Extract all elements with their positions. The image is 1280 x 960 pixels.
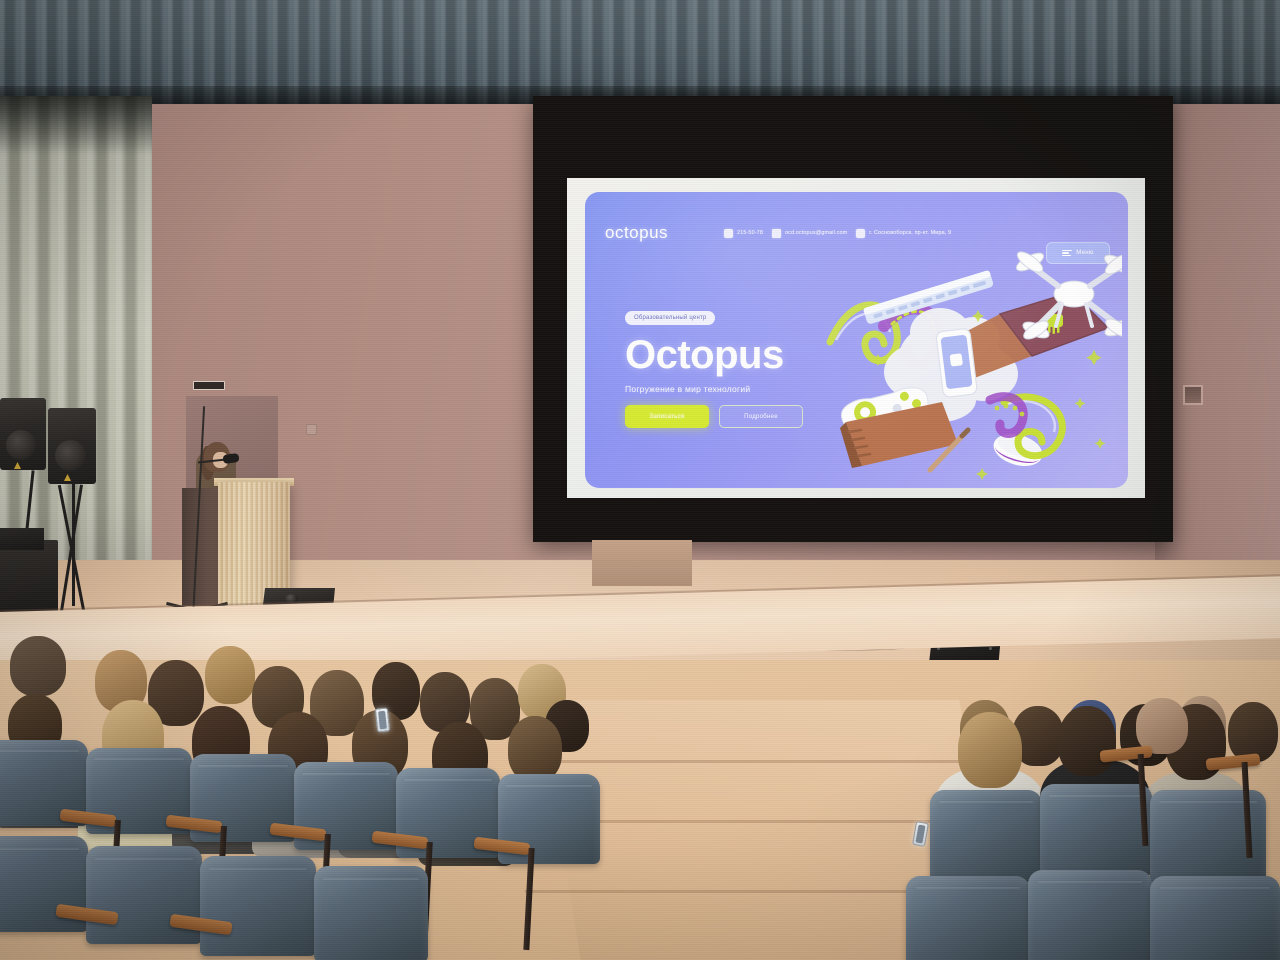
subwoofer-cabinet xyxy=(0,540,58,616)
audience-head xyxy=(10,636,66,696)
audience-head xyxy=(508,716,562,782)
contact-phone[interactable]: 215-50-78 xyxy=(724,229,763,238)
stage-valance-curtain xyxy=(0,0,1280,104)
audience-head xyxy=(958,712,1022,788)
drape-top-shadow xyxy=(0,96,152,154)
seat[interactable] xyxy=(314,866,428,960)
screen-support-column xyxy=(592,540,692,586)
ventilation-grille-icon xyxy=(1183,385,1203,405)
subwoofer-cabinet-top xyxy=(0,528,44,550)
wall-sign-plaque xyxy=(193,381,225,390)
podium-side-panel xyxy=(182,488,218,606)
seat[interactable] xyxy=(1150,876,1280,960)
mail-icon xyxy=(772,229,781,238)
hero-badge: Образовательный центр xyxy=(625,311,715,325)
phone-icon xyxy=(724,229,733,238)
hero-button-group: Записаться Подробнее xyxy=(625,405,835,428)
octopus-logo: octopus xyxy=(605,223,668,243)
seat[interactable] xyxy=(906,876,1030,960)
pa-speaker-cone xyxy=(6,430,36,460)
audience-phone-icon xyxy=(375,707,390,732)
right-wall-panel xyxy=(1155,95,1280,640)
audience-head xyxy=(205,646,255,704)
audience-head xyxy=(1058,706,1116,776)
details-button[interactable]: Подробнее xyxy=(719,405,803,428)
hero-title: Octopus xyxy=(625,335,835,375)
speaker-tripod-leg-c xyxy=(72,484,75,606)
auditorium-photo: octopus 215-50-78 ocd.octopus@gmail.com … xyxy=(0,0,1280,960)
slide-hero: Образовательный центр Octopus Погружение… xyxy=(625,306,835,428)
seat[interactable] xyxy=(930,790,1042,882)
hero-subtitle: Погружение в мир технологий xyxy=(625,384,835,394)
phone-text: 215-50-78 xyxy=(737,230,763,236)
seat[interactable] xyxy=(1028,870,1152,960)
aisle-step-1 xyxy=(560,760,980,763)
pa-speaker-cone-2 xyxy=(55,440,86,471)
seat[interactable] xyxy=(1040,784,1152,876)
hero-illustration xyxy=(822,232,1122,482)
signup-button[interactable]: Записаться xyxy=(625,405,709,428)
seat[interactable] xyxy=(86,846,202,944)
presentation-slide: octopus 215-50-78 ocd.octopus@gmail.com … xyxy=(585,192,1128,488)
power-outlet-icon xyxy=(306,424,317,435)
seat[interactable] xyxy=(200,856,316,956)
